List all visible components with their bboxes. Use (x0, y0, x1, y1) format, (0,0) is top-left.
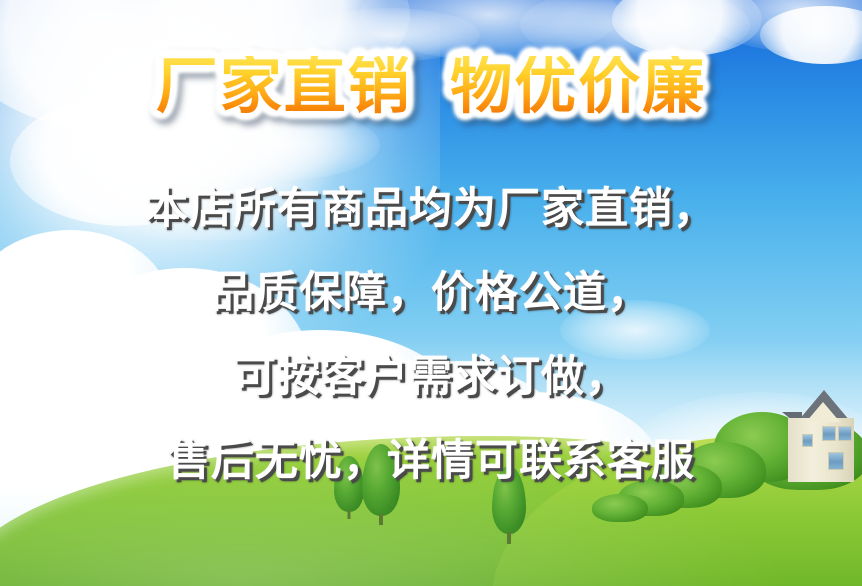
body-line-1: 本店所有商品均为厂家直销， (0, 188, 862, 231)
body-line-4: 售后无忧，详情可联系客服 (0, 440, 862, 483)
body-text-block: 本店所有商品均为厂家直销， 品质保障，价格公道， 可按客户需求订做， 售后无忧，… (0, 188, 862, 483)
bush (618, 480, 684, 516)
cloud-wisp (360, 0, 620, 60)
tree-trunk (507, 532, 511, 544)
tree-trunk (348, 510, 351, 519)
cloud-wisp (700, 0, 862, 52)
body-line-2: 品质保障，价格公道， (0, 272, 862, 315)
body-line-3: 可按客户需求订做， (0, 356, 862, 399)
cloud (612, 0, 762, 56)
tree-trunk (379, 514, 383, 525)
promo-banner: 厂家直销 物优价廉 本店所有商品均为厂家直销， 品质保障，价格公道， 可按客户需… (0, 0, 862, 586)
bush (592, 494, 648, 522)
headline-title: 厂家直销 物优价廉 (0, 56, 862, 118)
